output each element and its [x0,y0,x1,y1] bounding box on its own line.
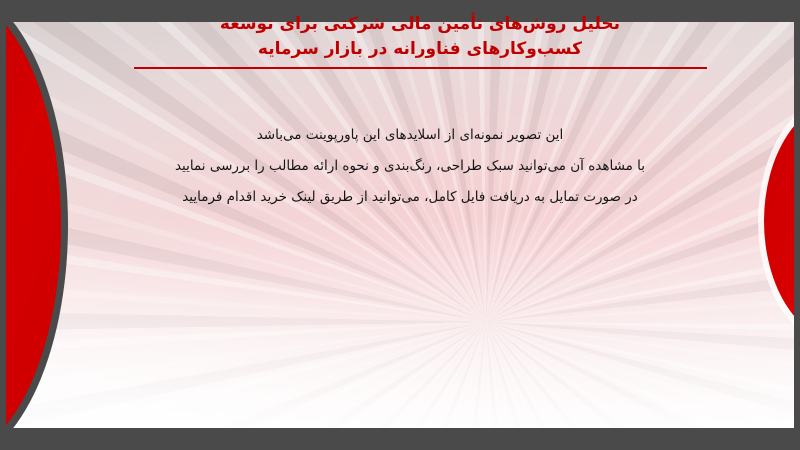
slide-body-line-1: این تصویر نمونه‌ای از اسلایدهای این پاور… [100,120,720,151]
slide-panel [6,22,794,428]
slide-frame-left [0,0,6,450]
slide-body-line-3: در صورت تمایل به دریافت فایل کامل، می‌تو… [100,182,720,213]
slide-body: این تصویر نمونه‌ای از اسلایدهای این پاور… [100,120,720,213]
background-stripes-texture [6,22,794,428]
title-underline-rule [134,67,707,69]
presentation-slide: تحلیل روش‌های تأمین مالی شرکتی برای توسع… [0,0,800,450]
slide-frame-right [794,0,800,450]
slide-body-line-2: با مشاهده آن می‌توانید سبک طراحی، رنگ‌بن… [100,151,720,182]
slide-title-line-1: تحلیل روش‌های تأمین مالی شرکتی برای توسع… [120,12,720,37]
slide-frame-bottom [0,428,800,450]
slide-title: تحلیل روش‌های تأمین مالی شرکتی برای توسع… [120,12,720,69]
slide-title-line-2: کسب‌وکارهای فناورانه در بازار سرمایه [120,37,720,62]
